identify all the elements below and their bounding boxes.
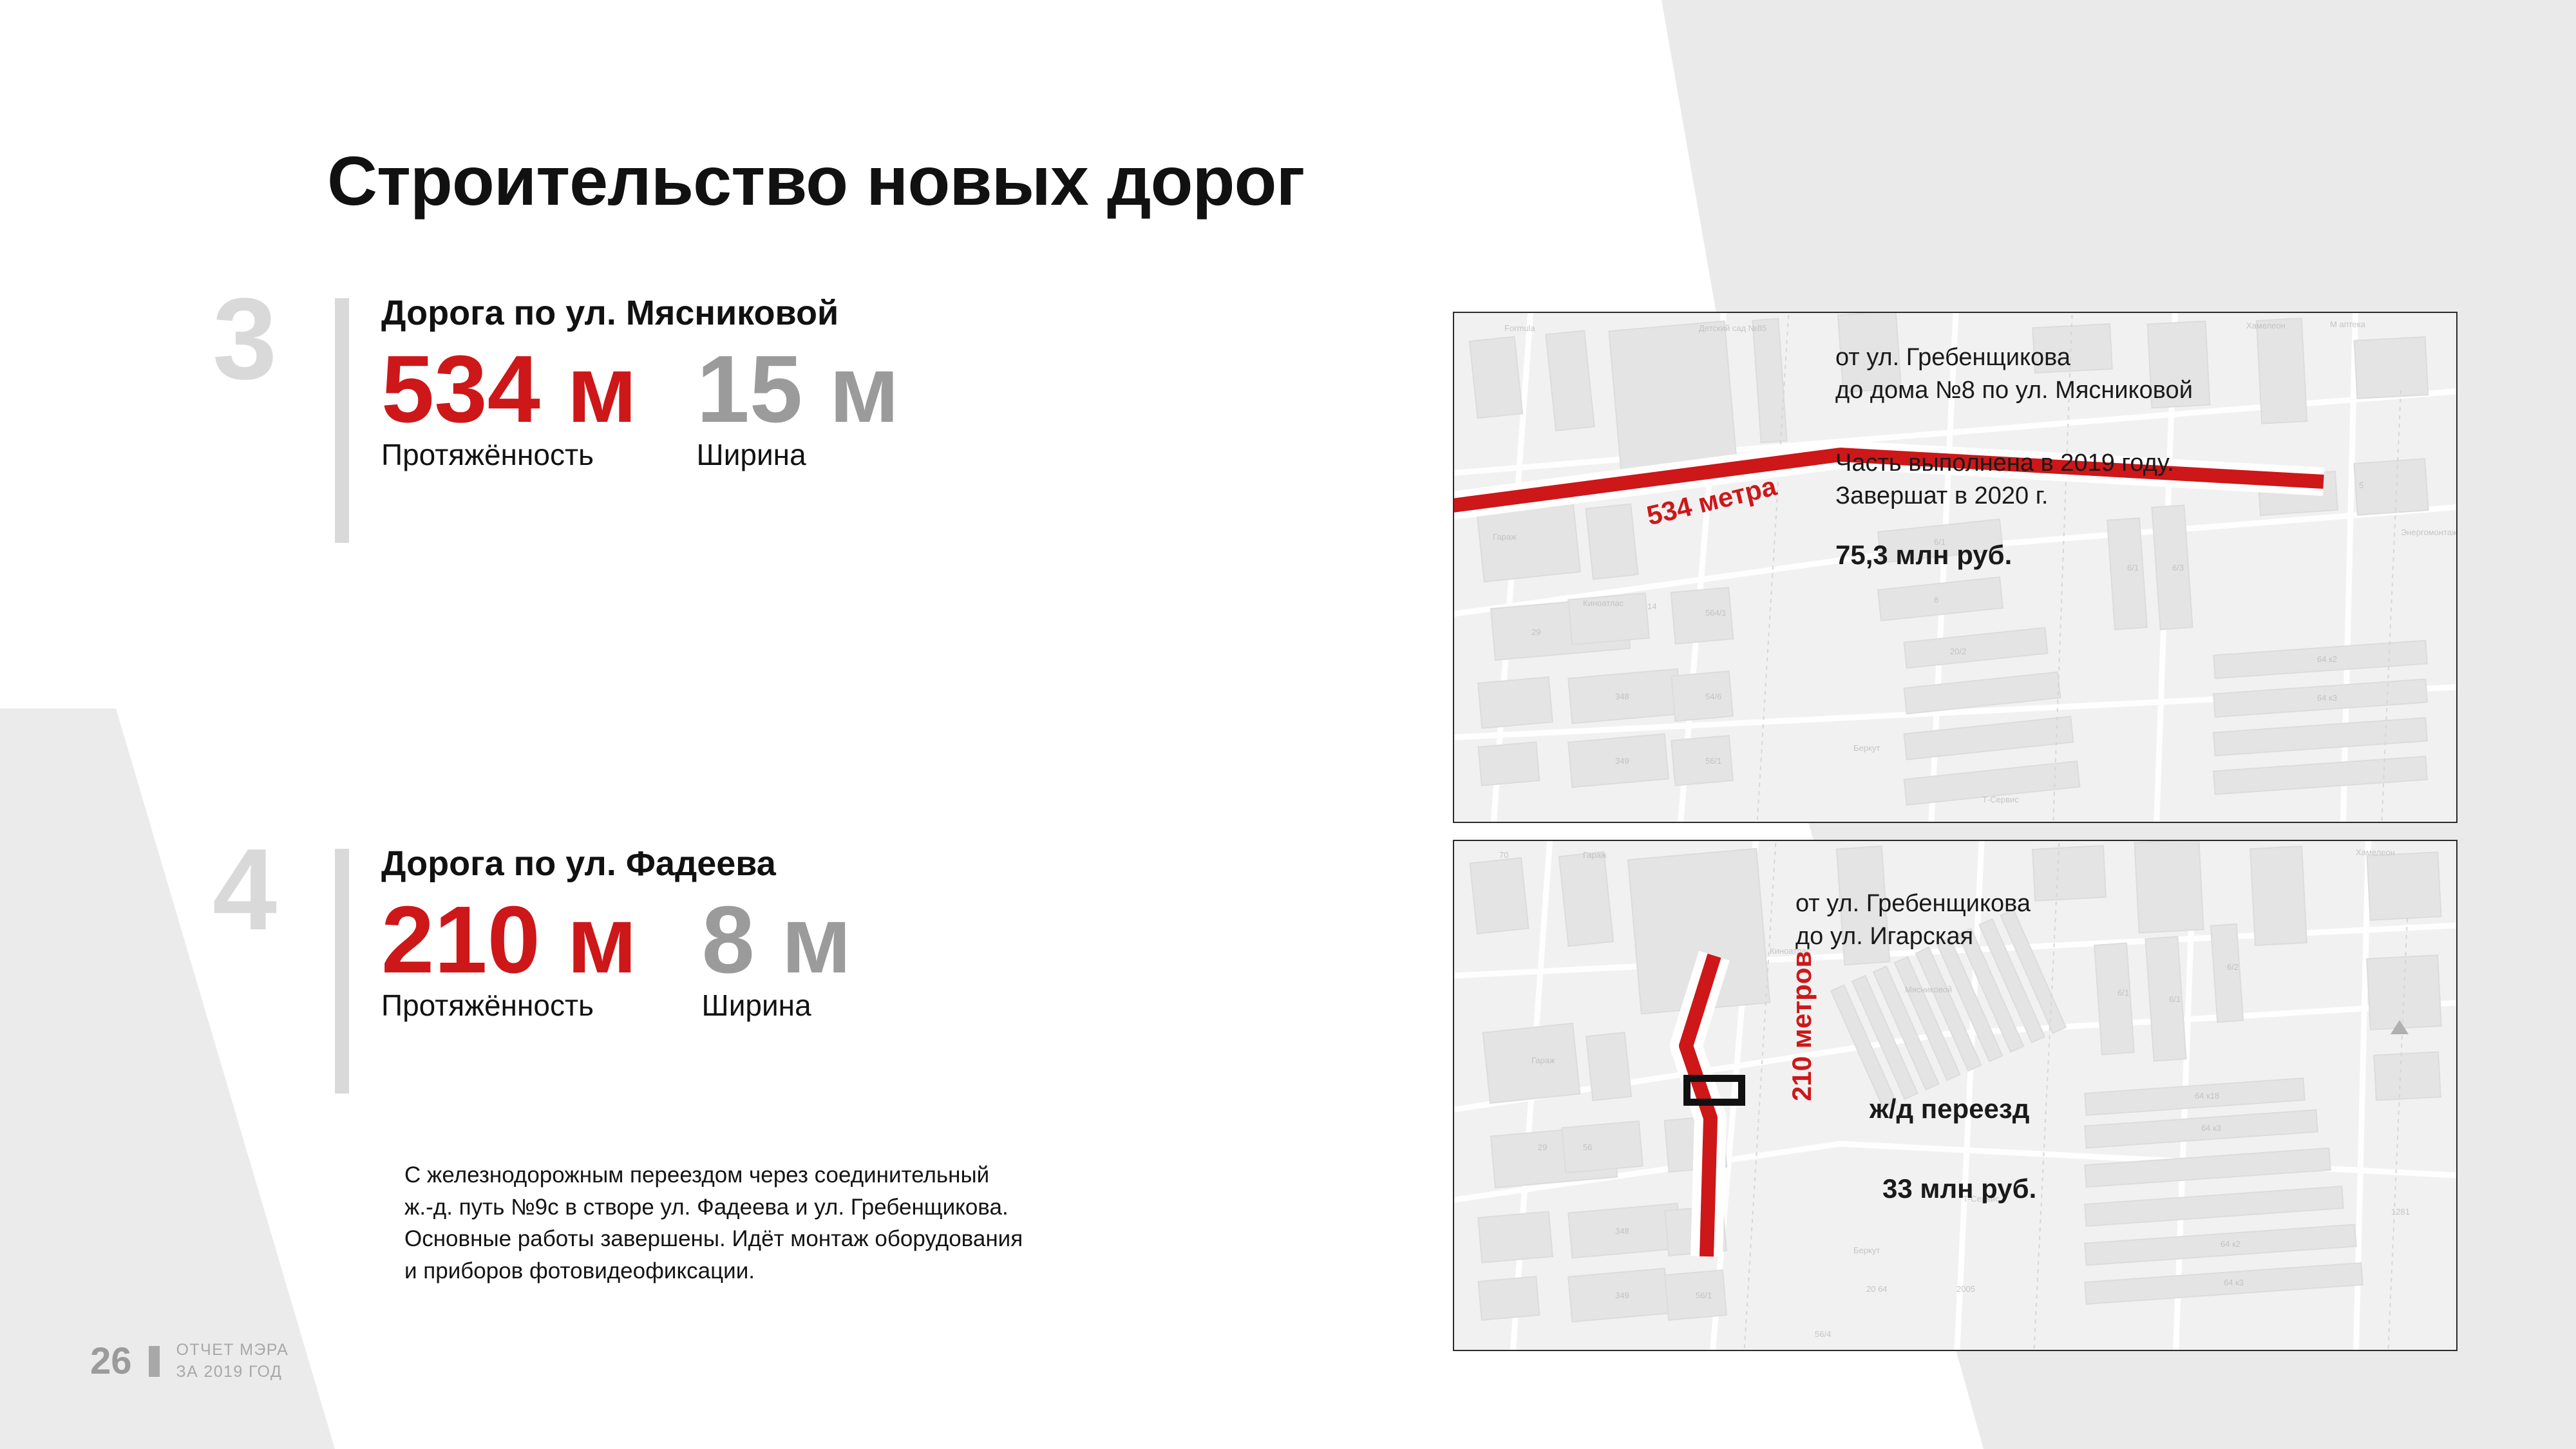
stat-width-value: 15 м xyxy=(697,338,900,441)
route-length-label: 210 метров xyxy=(1786,951,1817,1101)
map-origin-line: от ул. Гребенщикова xyxy=(1835,341,2193,374)
map-progress-line: Часть выполнена в 2019 году. xyxy=(1835,447,2174,480)
road-block-divider xyxy=(335,298,349,543)
road-index-number: 3 xyxy=(213,281,277,397)
map-origin-caption: от ул. Гребенщикова до дома №8 по ул. Мя… xyxy=(1835,341,2193,407)
slide-footer: 26 ОТЧЕТ МЭРА ЗА 2019 ГОД xyxy=(90,1340,289,1383)
slide-root: Строительство новых дорог 3 Дорога по ул… xyxy=(0,0,2576,1449)
map-cost-label: 75,3 млн руб. xyxy=(1835,537,2012,573)
stat-width: 15 м Ширина xyxy=(697,338,900,472)
map-panel-myasnikovoy[interactable]: Formula Детский сад №85 Хамелеон М аптек… xyxy=(1453,312,2458,823)
stat-length-value: 210 м xyxy=(381,889,638,992)
stat-length: 210 м Протяжённость xyxy=(381,889,638,1023)
map-origin-caption: от ул. Гребенщикова до ул. Игарская xyxy=(1795,887,2031,953)
footnote-line: Основные работы завершены. Идёт монтаж о… xyxy=(404,1223,1164,1255)
road-stats-row: 210 м Протяжённость 8 м Ширина xyxy=(381,889,1412,1023)
road-block-body: Дорога по ул. Мясниковой 534 м Протяжённ… xyxy=(381,293,1412,472)
report-caption-line: ЗА 2019 ГОД xyxy=(176,1361,289,1383)
map-origin-line: до дома №8 по ул. Мясниковой xyxy=(1835,374,2193,407)
page-number: 26 xyxy=(90,1343,132,1380)
railway-crossing-label: ж/д переезд xyxy=(1870,1091,2029,1127)
footer-divider xyxy=(149,1346,160,1377)
footnote-text: С железнодорожным переездом через соедин… xyxy=(404,1159,1164,1287)
page-title: Строительство новых дорог xyxy=(327,140,1304,221)
stat-length: 534 м Протяжённость xyxy=(381,338,638,472)
road-name: Дорога по ул. Мясниковой xyxy=(381,293,1412,333)
footnote-line: ж.-д. путь №9с в створе ул. Фадеева и ул… xyxy=(404,1191,1164,1224)
map-origin-line: до ул. Игарская xyxy=(1795,920,2031,953)
map-panel-fadeeva[interactable]: 70 Гараж Хамелеон Гараж 29 56 348 349 54… xyxy=(1453,840,2458,1351)
stat-width-value: 8 м xyxy=(702,889,852,992)
map-cost-label: 33 млн руб. xyxy=(1882,1171,2036,1207)
road-name: Дорога по ул. Фадеева xyxy=(381,844,1412,884)
report-caption-line: ОТЧЕТ МЭРА xyxy=(176,1340,289,1361)
road-block-body: Дорога по ул. Фадеева 210 м Протяжённост… xyxy=(381,844,1412,1023)
railway-crossing-marker-icon xyxy=(1683,1075,1745,1106)
footnote-line: С железнодорожным переездом через соедин… xyxy=(404,1159,1164,1191)
footnote-line: и приборов фотовидеофиксации. xyxy=(404,1255,1164,1287)
road-block-divider xyxy=(335,849,349,1094)
background-wedge-bottom-left xyxy=(0,708,335,1449)
map-progress-line: Завершат в 2020 г. xyxy=(1835,480,2174,513)
road-stats-row: 534 м Протяжённость 15 м Ширина xyxy=(381,338,1412,472)
road-index-number: 4 xyxy=(213,832,277,948)
report-caption: ОТЧЕТ МЭРА ЗА 2019 ГОД xyxy=(176,1340,289,1383)
map-progress-caption: Часть выполнена в 2019 году. Завершат в … xyxy=(1835,447,2174,513)
stat-width: 8 м Ширина xyxy=(702,889,852,1023)
stat-length-value: 534 м xyxy=(381,338,638,441)
map-origin-line: от ул. Гребенщикова xyxy=(1795,887,2031,920)
